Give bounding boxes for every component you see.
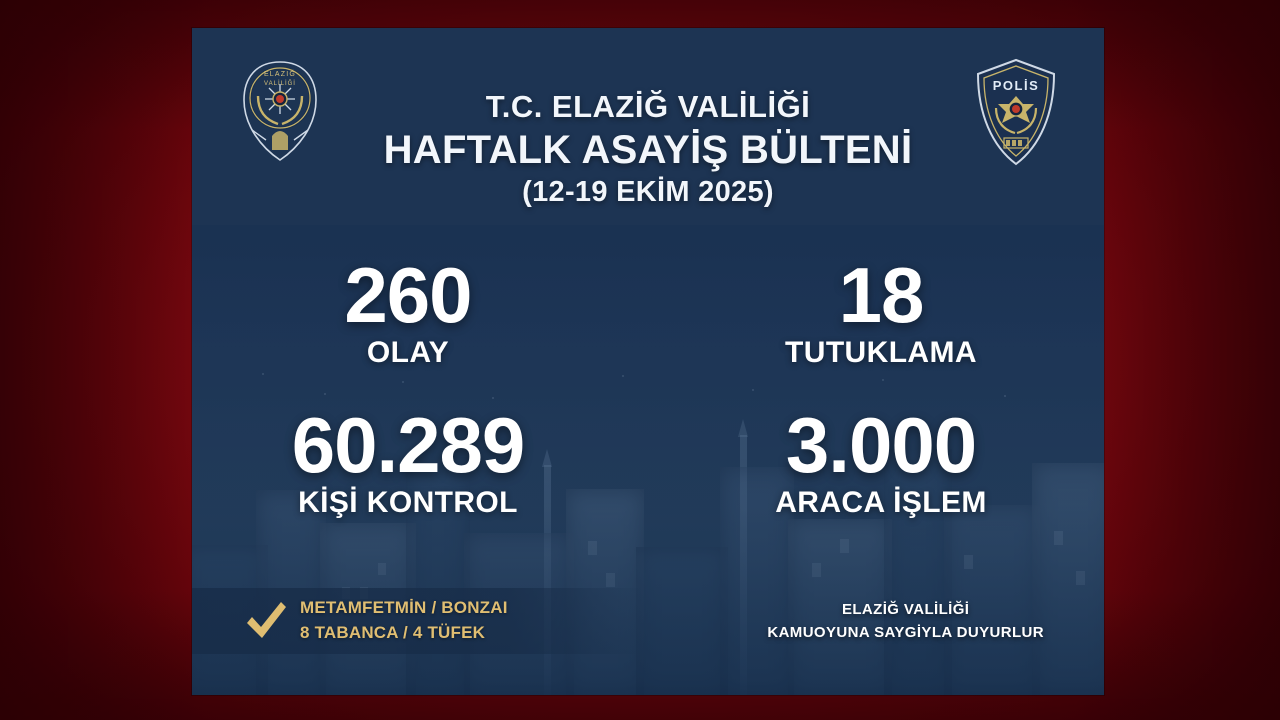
- statistics-grid: 260 OLAY 18 TUTUKLAMA 60.289 KİŞİ KONTRO…: [192, 258, 1104, 520]
- stat-value: 260: [192, 258, 624, 332]
- stat-label: OLAY: [192, 336, 624, 370]
- svg-text:ELAZIĞ: ELAZIĞ: [264, 69, 296, 78]
- seizures-text: METAMFETMİN / BONZAI 8 TABANCA / 4 TÜFEK: [300, 596, 508, 645]
- stat-value: 3.000: [658, 408, 1104, 482]
- seizures-band: METAMFETMİN / BONZAI 8 TABANCA / 4 TÜFEK: [192, 588, 644, 654]
- closing-statement: ELAZİĞ VALİLİĞİ KAMUOYUNA SAYGİYLA DUYUR…: [767, 598, 1044, 645]
- stat-label: KİŞİ KONTROL: [192, 486, 624, 520]
- poster-header: ELAZIĞ VALİLİĞİ P: [192, 28, 1104, 228]
- seizures-line-drugs: METAMFETMİN / BONZAI: [300, 596, 508, 621]
- stat-olay: 260 OLAY: [192, 258, 648, 370]
- poster-footer: METAMFETMİN / BONZAI 8 TABANCA / 4 TÜFEK…: [192, 560, 1104, 695]
- stat-araca-islem: 3.000 ARACA İŞLEM: [648, 408, 1104, 520]
- check-icon: [242, 597, 290, 645]
- page-title-authority: T.C. ELAZİĞ VALİLİĞİ: [342, 90, 954, 125]
- bulletin-panel: ELAZIĞ VALİLİĞİ P: [192, 28, 1104, 695]
- stat-kisi-kontrol: 60.289 KİŞİ KONTROL: [192, 408, 648, 520]
- svg-text:POLİS: POLİS: [993, 78, 1040, 93]
- closing-line-authority: ELAZİĞ VALİLİĞİ: [767, 598, 1044, 621]
- seizures-line-weapons: 8 TABANCA / 4 TÜFEK: [300, 621, 508, 646]
- stat-value: 18: [658, 258, 1104, 332]
- stat-tutuklama: 18 TUTUKLAMA: [648, 258, 1104, 370]
- page-title-main: HAFTALK ASAYİŞ BÜLTENİ: [342, 127, 954, 173]
- page-title-daterange: (12-19 EKİM 2025): [342, 175, 954, 210]
- elazig-governorship-emblem: ELAZIĞ VALİLİĞİ: [232, 52, 328, 172]
- poster-backdrop: ELAZIĞ VALİLİĞİ P: [0, 0, 1280, 720]
- poster-title-block: T.C. ELAZİĞ VALİLİĞİ HAFTALK ASAYİŞ BÜLT…: [342, 90, 954, 210]
- stat-label: ARACA İŞLEM: [658, 486, 1104, 520]
- closing-line-message: KAMUOYUNA SAYGİYLA DUYURLUR: [767, 621, 1044, 644]
- turkish-police-badge: POLİS: [968, 52, 1064, 172]
- stat-value: 60.289: [192, 408, 624, 482]
- stat-label: TUTUKLAMA: [658, 336, 1104, 370]
